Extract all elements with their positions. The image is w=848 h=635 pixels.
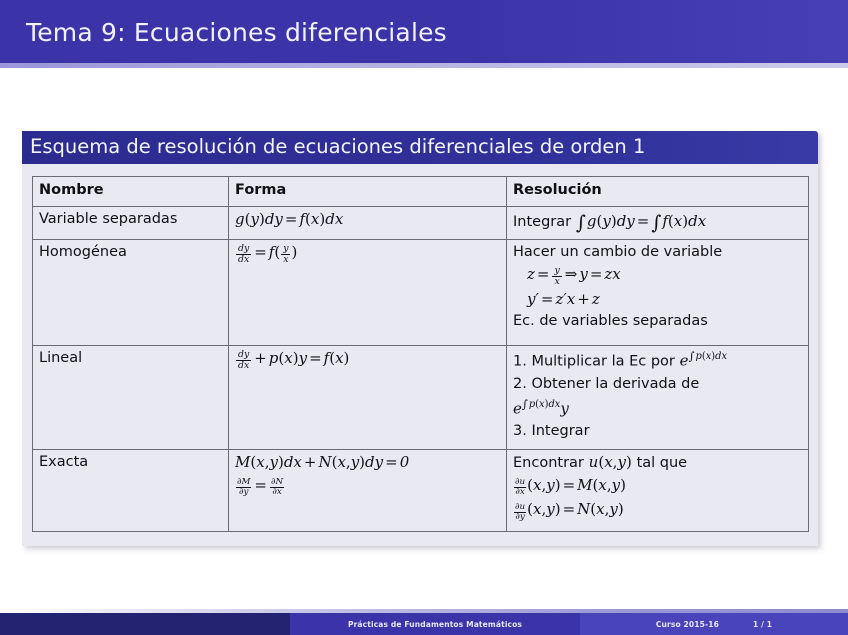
column-header-nombre: Nombre xyxy=(33,177,229,206)
left-sidebar-strip xyxy=(0,68,11,605)
formula-exacta-line-2: ∂M∂y=∂N∂x xyxy=(235,476,500,497)
table-header-row: Nombre Forma Resolución xyxy=(33,177,809,206)
page-title: Tema 9: Ecuaciones diferenciales xyxy=(26,18,447,47)
footer-course-year: Curso 2015-16 xyxy=(656,620,719,629)
resolution-exacta-line-2: ∂u∂x(x,y)=M(x,y) xyxy=(513,476,802,497)
content-block: Esquema de resolución de ecuaciones dife… xyxy=(22,131,818,546)
block-title: Esquema de resolución de ecuaciones dife… xyxy=(22,131,818,164)
cell-nombre-variable-separadas: Variable separadas xyxy=(33,206,229,239)
cell-forma-exacta: M(x,y)dx+N(x,y)dy=0 ∂M∂y=∂N∂x xyxy=(229,449,507,531)
formula-lineal: dydx+p(x)y=f(x) xyxy=(235,349,349,367)
slide-footer: Prácticas de Fundamentos Matemáticos Cur… xyxy=(0,613,848,635)
formula-variable-separadas: g(y)dy=f(x)dx xyxy=(235,210,343,228)
resolution-lineal-line-3: e∫p(x)dxy xyxy=(513,397,802,419)
resolution-lineal-line-1: 1. Multiplicar la Ec por e∫p(x)dx xyxy=(513,349,802,372)
cell-resolucion-exacta: Encontrar u(x,y) tal que ∂u∂x(x,y)=M(x,y… xyxy=(507,449,809,531)
column-header-resolucion: Resolución xyxy=(507,177,809,206)
cell-resolucion-homogenea: Hacer un cambio de variable z=yx⇒y=zx y′… xyxy=(507,239,809,345)
cell-nombre-exacta: Exacta xyxy=(33,449,229,531)
cell-forma-variable-separadas: g(y)dy=f(x)dx xyxy=(229,206,507,239)
resolution-lineal-line-2: 2. Obtener la derivada de xyxy=(513,375,802,394)
resolution-exacta-line-3: ∂u∂y(x,y)=N(x,y) xyxy=(513,500,802,521)
resolution-homogenea-line-3: y′=z′x+z xyxy=(513,290,802,310)
footer-left-segment xyxy=(0,613,290,635)
footer-page-number: 1 / 1 xyxy=(753,620,772,629)
schema-table: Nombre Forma Resolución Variable separad… xyxy=(32,176,809,531)
resolution-homogenea-line-4: Ec. de variables separadas xyxy=(513,312,802,331)
table-row: Variable separadas g(y)dy=f(x)dx Integra… xyxy=(33,206,809,239)
formula-homogenea: dydx=f(yx) xyxy=(235,243,297,261)
cell-forma-lineal: dydx+p(x)y=f(x) xyxy=(229,345,507,449)
cell-forma-homogenea: dydx=f(yx) xyxy=(229,239,507,345)
cell-resolucion-variable-separadas: Integrar ∫g(y)dy=∫f(x)dx xyxy=(507,206,809,239)
resolution-homogenea-line-1: Hacer un cambio de variable xyxy=(513,243,802,262)
footer-course-title: Prácticas de Fundamentos Matemáticos xyxy=(290,613,580,635)
cell-nombre-lineal: Lineal xyxy=(33,345,229,449)
table-row: Homogénea dydx=f(yx) Hacer un cambio de … xyxy=(33,239,809,345)
resolution-homogenea-line-2: z=yx⇒y=zx xyxy=(513,265,802,287)
cell-nombre-homogenea: Homogénea xyxy=(33,239,229,345)
footer-right-segment: Curso 2015-16 1 / 1 xyxy=(580,613,848,635)
column-header-forma: Forma xyxy=(229,177,507,206)
table-row: Lineal dydx+p(x)y=f(x) 1. Multiplicar la… xyxy=(33,345,809,449)
resolution-lineal-line-4: 3. Integrar xyxy=(513,422,802,441)
title-bar-accent-line xyxy=(0,63,848,68)
resolution-exacta-line-1: Encontrar u(x,y) tal que xyxy=(513,453,802,473)
cell-resolucion-lineal: 1. Multiplicar la Ec por e∫p(x)dx 2. Obt… xyxy=(507,345,809,449)
table-row: Exacta M(x,y)dx+N(x,y)dy=0 ∂M∂y=∂N∂x Enc… xyxy=(33,449,809,531)
formula-exacta-line-1: M(x,y)dx+N(x,y)dy=0 xyxy=(235,453,500,473)
resolution-variable-separadas: Integrar ∫g(y)dy=∫f(x)dx xyxy=(513,212,706,230)
block-body: Nombre Forma Resolución Variable separad… xyxy=(22,164,818,545)
